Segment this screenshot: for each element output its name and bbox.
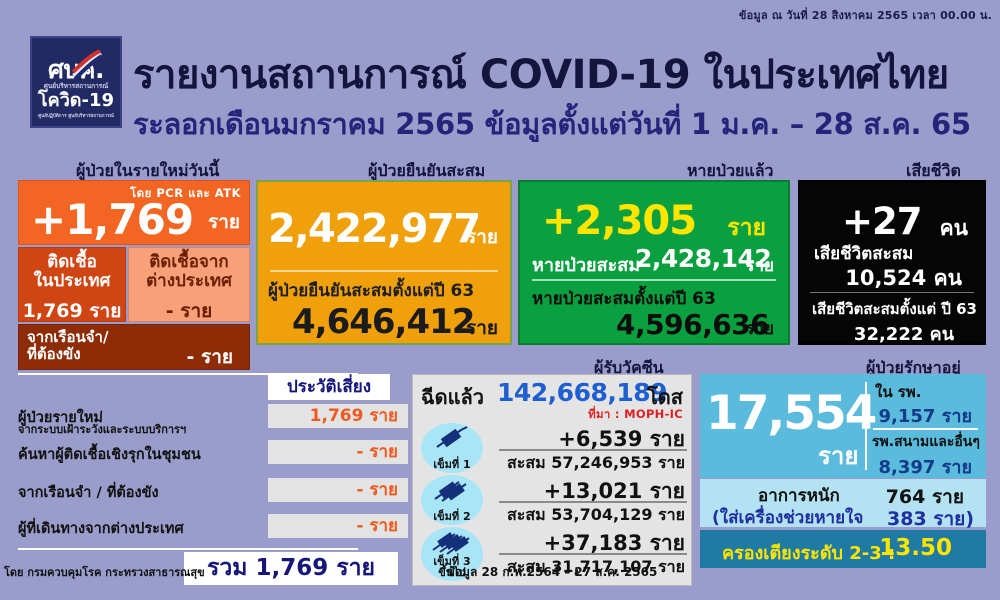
treating-unit: ราย <box>818 436 858 475</box>
field-hospital-label: รพ.สนามและอื่นๆ <box>872 431 980 453</box>
syringe-2-icon: เข็มที่ 2 <box>421 475 483 525</box>
logo-covid: โควิด-19 <box>38 92 114 111</box>
recovered-value: +2,305 <box>542 198 696 244</box>
treating-card: 17,554 ราย ใน รพ. 9,157 ราย รพ.สนามและอื… <box>700 374 986 478</box>
risk-label: ผู้ที่เดินทางจากต่างประเทศ <box>18 517 184 540</box>
page-subtitle: ระลอกเดือนมกราคม 2565 ข้อมูลตั้งแต่วันที… <box>133 101 971 147</box>
risk-row-international: ผู้ที่เดินทางจากต่างประเทศ - ราย <box>18 516 398 542</box>
recovered-card: +2,305 ราย หายป่วยสะสม 2,428,142 ราย หาย… <box>518 180 790 345</box>
cumulative-since-label: ผู้ป่วยยืนยันสะสมตั้งแต่ปี 63 <box>268 277 474 304</box>
footer-credit: โดย กรมควบคุมโรค กระทรวงสาธารณสุข <box>4 563 205 581</box>
cumulative-divider <box>270 270 498 272</box>
vaccine-dose-row-2: เข็มที่ 2 +13,021 ราย สะสม 53,704,129 รา… <box>413 475 693 525</box>
ccsa-logo: ศบค. ศูนย์บริหารสถานการณ์ โควิด-19 ศูนย์… <box>30 36 122 128</box>
vaccine-panel: ฉีดแล้ว 142,668,189 โดส ที่มา : MOPH-IC … <box>412 374 692 586</box>
risk-value: - ราย <box>268 514 408 538</box>
vaccine-injected-label: ฉีดแล้ว <box>421 381 484 413</box>
recovered-divider <box>532 279 776 281</box>
cumulative-cases-card: 2,422,977 ราย ผู้ป่วยยืนยันสะสมตั้งแต่ปี… <box>256 180 512 345</box>
deaths-since-value: 32,222 คน <box>854 319 954 348</box>
risk-row-prison: จากเรือนจำ / ที่ต้องขัง - ราย <box>18 480 398 506</box>
recovered-since-unit: ราย <box>745 315 774 342</box>
treating-value: 17,554 <box>706 386 875 441</box>
vaccine-dose-row-1: เข็มที่ 1 +6,539 ราย สะสม 57,246,953 ราย <box>413 423 693 473</box>
cumulative-unit: ราย <box>466 222 498 252</box>
risk-row-active-search: ค้นหาผู้ติดเชื้อเชิงรุกในชุมชน - ราย <box>18 442 398 468</box>
deaths-since-label: เสียชีวิตสะสมตั้งแต่ ปี 63 <box>812 297 977 321</box>
imported-label-2: ต่างประเทศ <box>129 272 249 291</box>
recovered-unit: ราย <box>727 210 766 246</box>
prison-cases-card: จากเรือนจำ/ ที่ต้องขัง - ราย <box>18 324 250 370</box>
risk-row-surveillance: ผู้ป่วยรายใหม่ จากระบบเฝ้าระวังและระบบบร… <box>18 404 398 430</box>
new-cases-card: โดย PCR และ ATK +1,769 ราย <box>18 180 250 245</box>
new-cases-value: +1,769 <box>31 195 193 244</box>
deaths-acc-value: 10,524 คน <box>845 262 962 295</box>
prison-value: - ราย <box>186 342 233 372</box>
deaths-card: +27 คน เสียชีวิตสะสม 10,524 คน เสียชีวิต… <box>798 180 986 345</box>
deaths-divider <box>810 292 974 293</box>
domestic-label-1: ติดเชื้อ <box>19 253 125 272</box>
in-hospital-value: 9,157 ราย <box>878 401 972 430</box>
recovered-acc-label: หายป่วยสะสม <box>532 250 640 279</box>
deaths-unit: คน <box>940 212 968 245</box>
risk-total: รวม 1,769 ราย <box>184 552 398 585</box>
cumulative-value: 2,422,977 <box>268 206 480 252</box>
new-cases-unit: ราย <box>208 207 240 237</box>
dose-2-accumulated: สะสม 53,704,129 ราย <box>507 503 685 528</box>
syringe-glyph <box>431 478 475 504</box>
cumulative-since-unit: ราย <box>466 313 498 343</box>
risk-value: - ราย <box>268 478 408 502</box>
imported-label-1: ติดเชื้อจาก <box>129 253 249 272</box>
syringe-glyph <box>431 530 479 556</box>
vaccine-source: ที่มา : MOPH-IC <box>588 406 683 424</box>
logo-tagline: ศูนย์ปฏิบัติการ ศูนย์บริหารสถานการณ์ <box>38 113 114 120</box>
as-of-date: ข้อมูล ณ วันที่ 28 สิงหาคม 2565 เวลา 00.… <box>739 6 992 24</box>
dose-2-label: เข็มที่ 2 <box>433 511 470 525</box>
deaths-value: +27 <box>842 200 922 243</box>
syringe-1-icon: เข็มที่ 1 <box>421 423 483 473</box>
dose-1-label: เข็มที่ 1 <box>433 459 470 473</box>
bed-occupancy-value: 13.50 <box>879 535 952 561</box>
risk-history-header: ประวัติเสี่ยง <box>268 374 390 400</box>
risk-label: จากเรือนจำ / ที่ต้องขัง <box>18 481 159 504</box>
imported-cases-card: ติดเชื้อจาก ต่างประเทศ - ราย <box>128 247 250 322</box>
risk-total-divider <box>18 548 358 550</box>
ventilator-label: (ใส่เครื่องช่วยหายใจ <box>712 504 863 531</box>
domestic-cases-card: ติดเชื้อ ในประเทศ 1,769 ราย <box>18 247 126 322</box>
domestic-value: 1,769 ราย <box>19 296 125 326</box>
page-title: รายงานสถานการณ์ COVID-19 ในประเทศไทย <box>133 42 949 106</box>
bed-occupancy-label: ครองเตียงระดับ 2-3 : <box>722 538 895 567</box>
syringe-glyph <box>431 426 471 452</box>
thai-flag-icon <box>70 50 104 80</box>
infographic-root: ข้อมูล ณ วันที่ 28 สิงหาคม 2565 เวลา 00.… <box>0 0 1000 600</box>
risk-label: ค้นหาผู้ติดเชื้อเชิงรุกในชุมชน <box>18 443 201 466</box>
cumulative-since-value: 4,646,412 <box>292 302 474 342</box>
domestic-label-2: ในประเทศ <box>19 272 125 291</box>
recovered-acc-unit: ราย <box>745 252 774 279</box>
bed-occupancy-card: ครองเตียงระดับ 2-3 : 13.50 <box>700 530 986 568</box>
risk-value: 1,769 ราย <box>268 404 408 428</box>
vaccine-total-doses: 142,668,189 <box>497 378 667 407</box>
risk-value: - ราย <box>268 440 408 464</box>
field-hospital-value: 8,397 ราย <box>878 452 972 481</box>
imported-value: - ราย <box>129 296 249 326</box>
risk-sublabel: จากระบบเฝ้าระวังและระบบบริการฯ <box>18 420 186 438</box>
vaccine-period: ข้อมูล 28 ก.พ.2564 – 27 ส.ค. 2565 <box>413 563 691 582</box>
dose-1-accumulated: สะสม 57,246,953 ราย <box>507 451 685 476</box>
treating-vertical-divider <box>865 382 867 470</box>
severe-cases-card: อาการหนัก 764 ราย (ใส่เครื่องช่วยหายใจ 3… <box>700 479 986 527</box>
